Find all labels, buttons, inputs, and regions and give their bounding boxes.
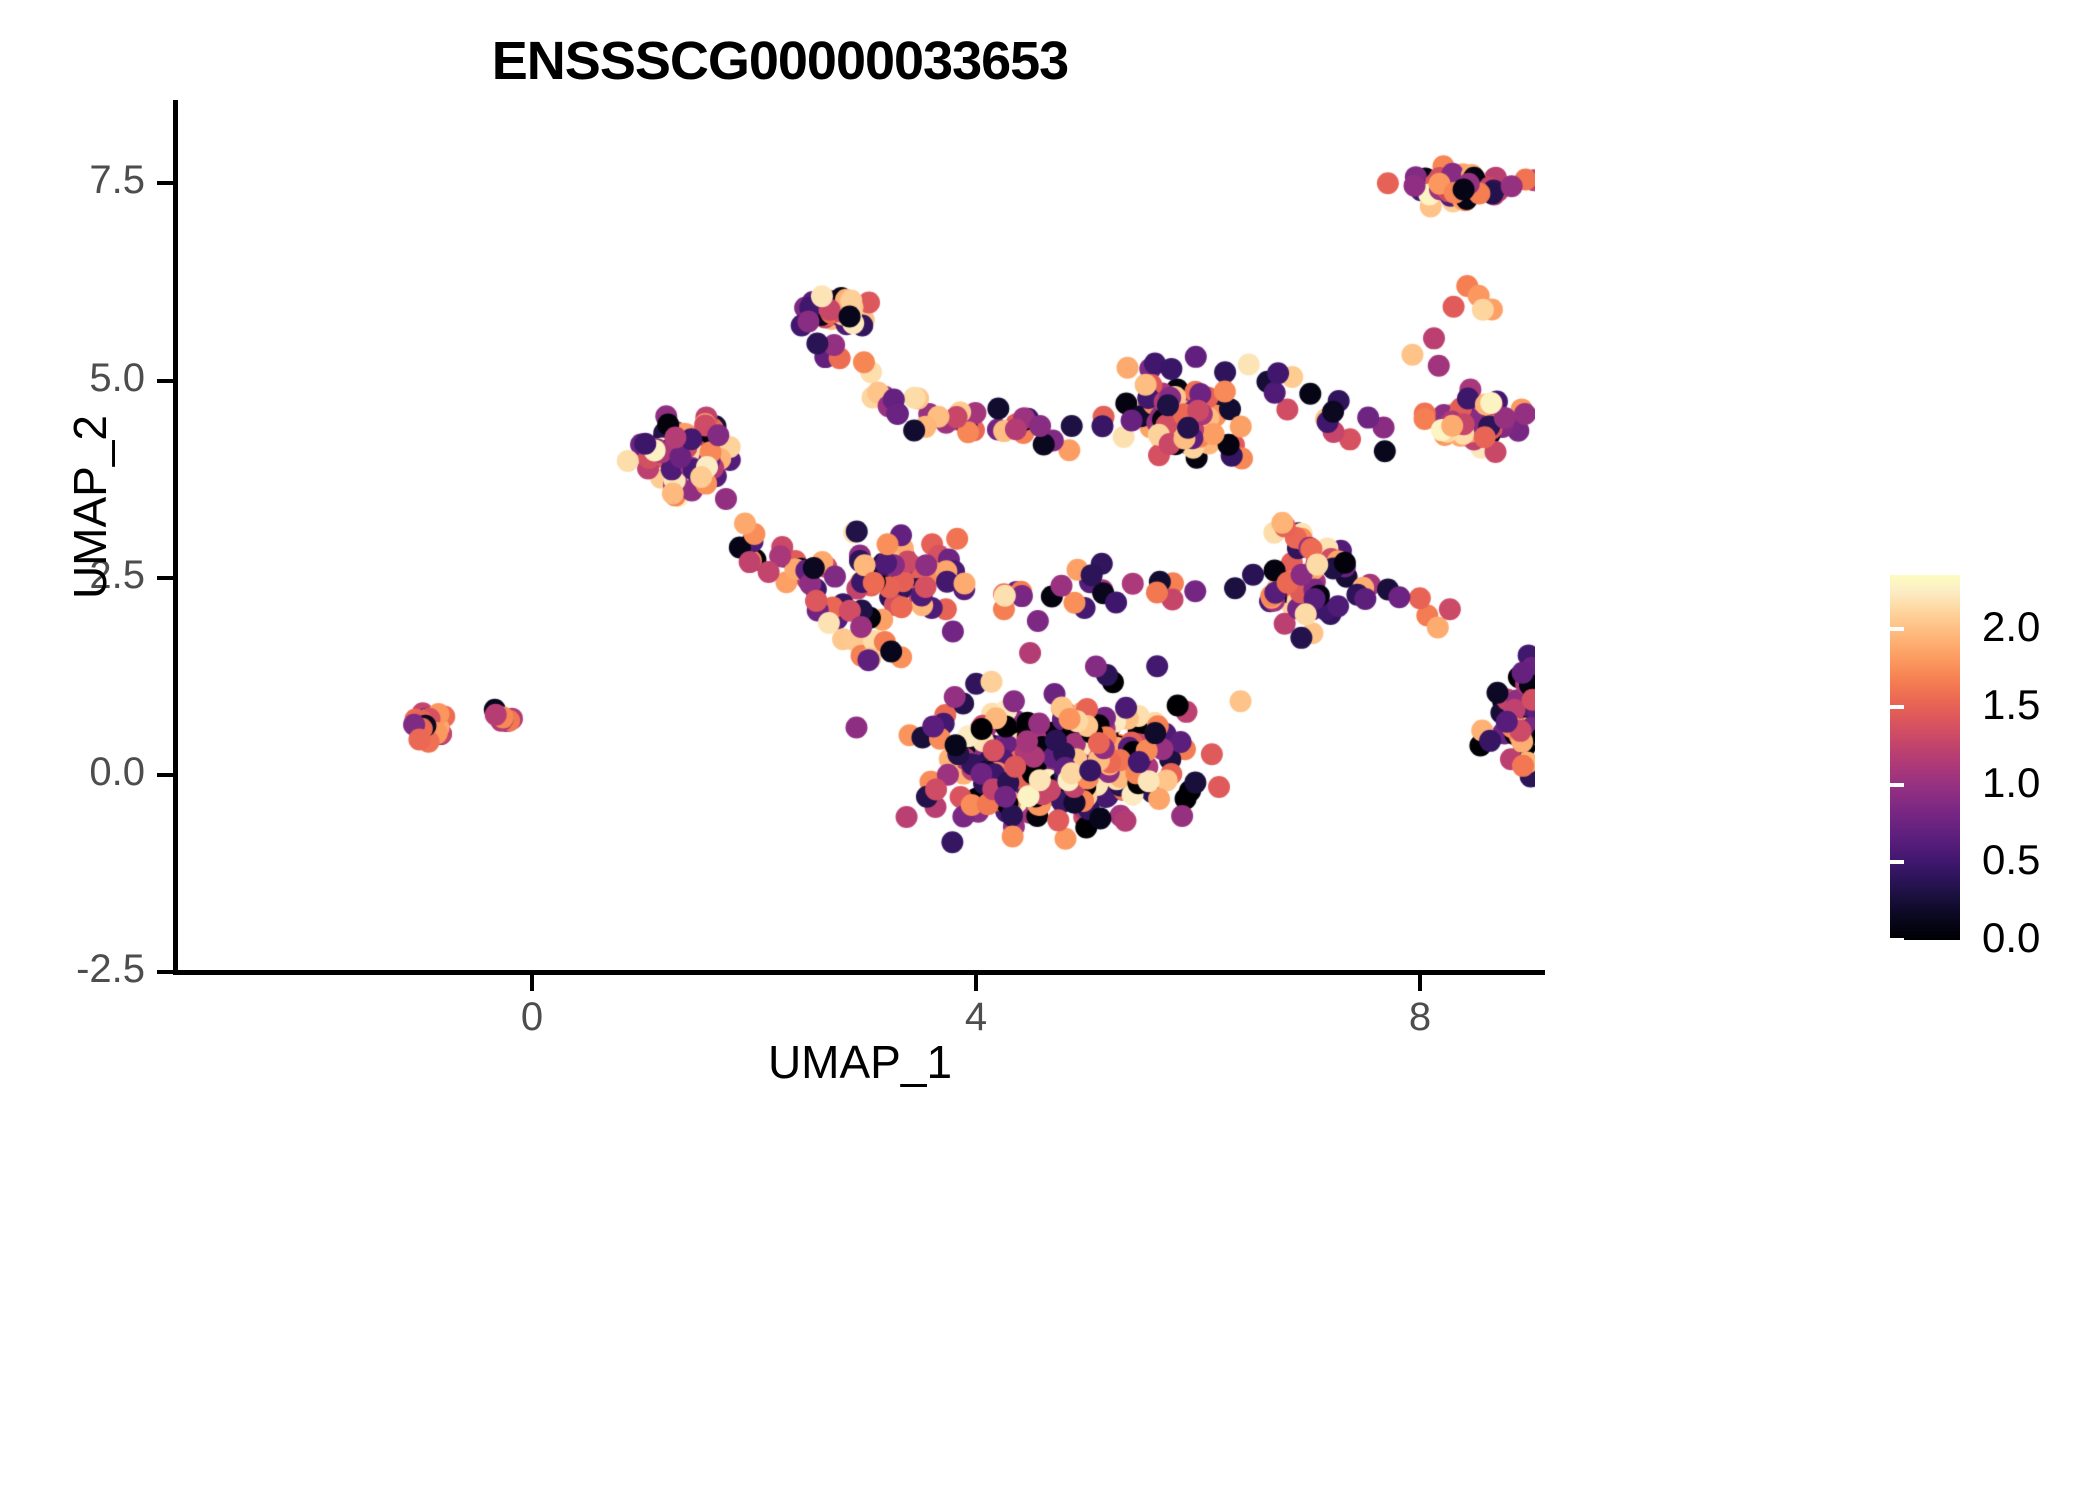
chart-title: ENSSSCG00000033653 bbox=[0, 30, 1560, 92]
y-axis-title: UMAP_2 bbox=[63, 107, 117, 907]
colorbar-tick-mark bbox=[1876, 783, 1890, 787]
y-axis-tick bbox=[157, 970, 173, 974]
y-axis-tick-label: -2.5 bbox=[0, 947, 145, 992]
y-axis-tick bbox=[157, 181, 173, 185]
colorbar-tick-mark bbox=[1876, 627, 1890, 631]
x-axis-tick bbox=[1418, 975, 1422, 991]
colorbar-tick-mark bbox=[1876, 705, 1890, 709]
colorbar-tick-label: 0.0 bbox=[1982, 914, 2092, 962]
colorbar-tick-label: 1.5 bbox=[1982, 681, 2092, 729]
x-axis-tick-label: 0 bbox=[472, 995, 592, 1040]
x-axis-line bbox=[175, 970, 1545, 975]
colorbar-tick-mark bbox=[1890, 783, 1904, 787]
colorbar-tick-mark bbox=[1890, 860, 1904, 864]
y-axis-tick bbox=[157, 773, 173, 777]
y-axis-tick bbox=[157, 379, 173, 383]
scatter-plot-canvas bbox=[175, 100, 1535, 972]
chart-root: ENSSSCG00000033653 7.55.02.50.0-2.5048 U… bbox=[0, 0, 2100, 1500]
colorbar-tick-mark bbox=[1876, 860, 1890, 864]
x-axis-tick bbox=[974, 975, 978, 991]
x-axis-tick bbox=[530, 975, 534, 991]
colorbar-tick-mark bbox=[1876, 938, 1890, 942]
colorbar-tick-label: 0.5 bbox=[1982, 836, 2092, 884]
y-axis-tick bbox=[157, 576, 173, 580]
colorbar-tick-mark bbox=[1890, 705, 1904, 709]
colorbar-tick-mark bbox=[1890, 938, 1904, 942]
plot-panel bbox=[175, 100, 1535, 972]
x-axis-tick-label: 4 bbox=[916, 995, 1036, 1040]
colorbar-tick-label: 1.0 bbox=[1982, 759, 2092, 807]
y-axis-line bbox=[173, 100, 178, 975]
x-axis-tick-label: 8 bbox=[1360, 995, 1480, 1040]
colorbar-tick-mark bbox=[1890, 627, 1904, 631]
x-axis-title: UMAP_1 bbox=[175, 1035, 1545, 1089]
colorbar-tick-label: 2.0 bbox=[1982, 603, 2092, 651]
